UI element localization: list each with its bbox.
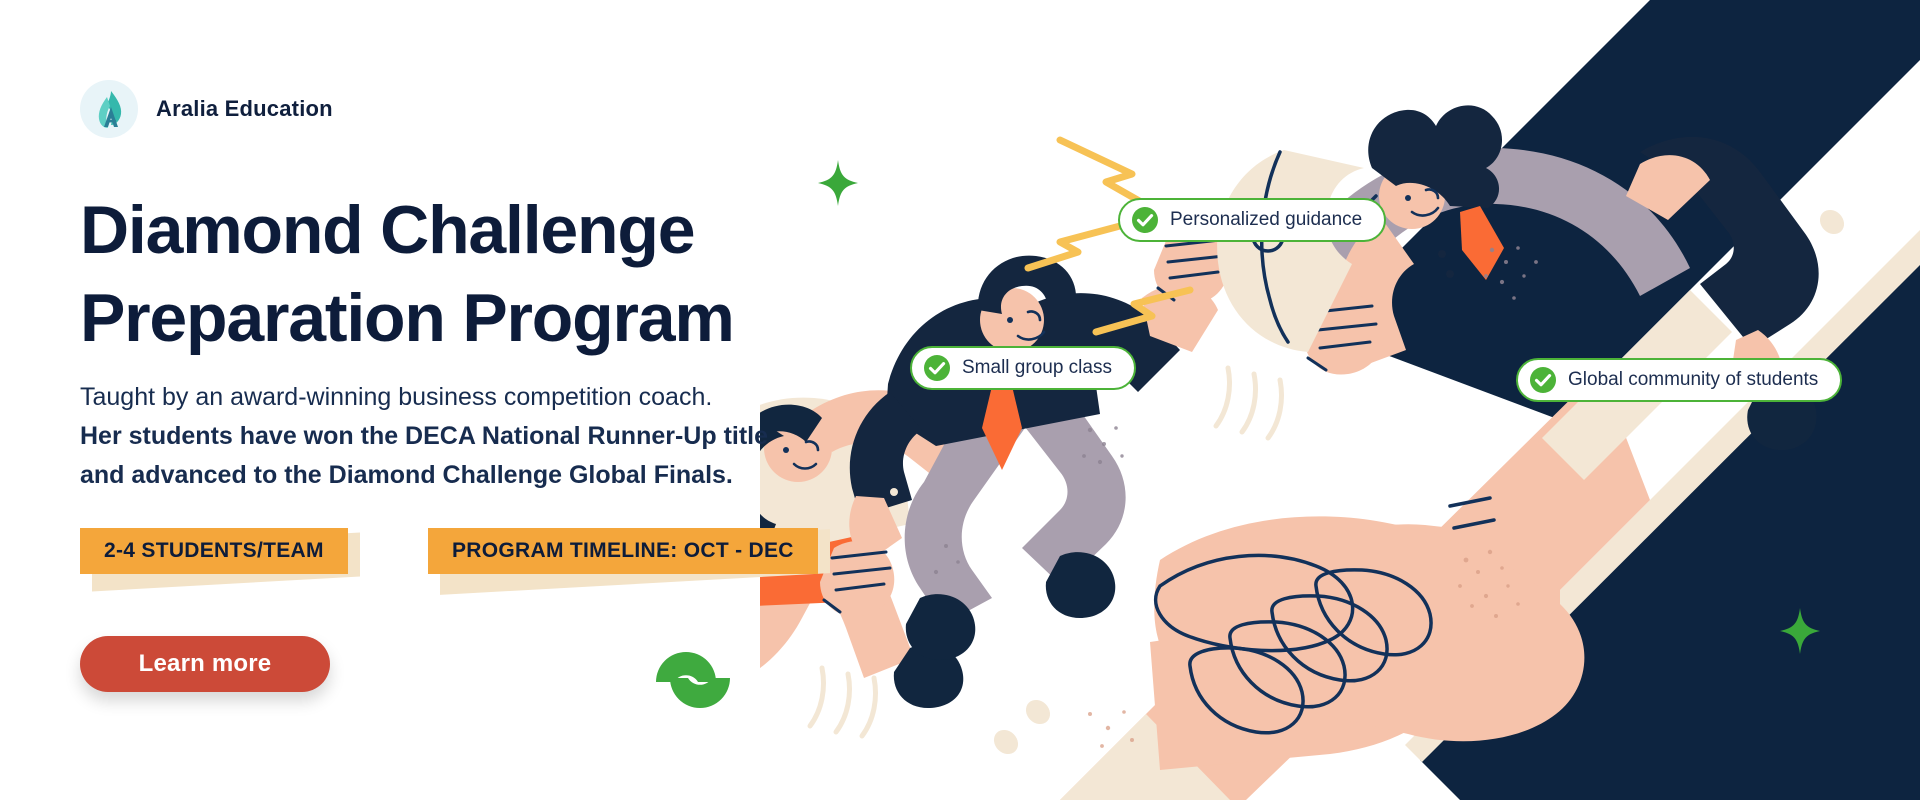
feature-pill-label: Personalized guidance (1170, 209, 1362, 231)
megaphone-icon (1217, 150, 1380, 352)
feature-pill-label: Global community of students (1568, 369, 1818, 391)
hero-banner: Personalized guidance Small group class … (0, 0, 1920, 800)
check-circle-icon (1132, 207, 1158, 233)
feature-pill-personalized-guidance[interactable]: Personalized guidance (1118, 198, 1386, 242)
feature-pill-label: Small group class (962, 357, 1112, 379)
aralia-flame-logo-icon (80, 80, 138, 138)
feature-pill-small-group-class[interactable]: Small group class (910, 346, 1136, 390)
tag-label: 2-4 STUDENTS/TEAM (80, 528, 348, 574)
check-circle-icon (924, 355, 950, 381)
page-title: Diamond Challenge Preparation Program (80, 186, 920, 362)
headline-line-2: Preparation Program (80, 274, 920, 362)
feature-pill-global-community[interactable]: Global community of students (1516, 358, 1842, 402)
sparkle-star-icon (818, 160, 858, 211)
tag-label: PROGRAM TIMELINE: OCT - DEC (428, 528, 818, 574)
sparkle-star-icon (1780, 608, 1820, 659)
subcopy-line-2: Her students have won the DECA National … (80, 417, 920, 456)
tag-students-per-team: 2-4 STUDENTS/TEAM (80, 528, 348, 574)
check-circle-icon (1530, 367, 1556, 393)
tag-program-timeline: PROGRAM TIMELINE: OCT - DEC (428, 528, 818, 574)
hero-subcopy: Taught by an award-winning business comp… (80, 378, 920, 495)
brand-lockup[interactable]: Aralia Education (80, 80, 333, 138)
handshake-graphic (989, 205, 1849, 800)
refresh-loop-icon (650, 644, 736, 721)
learn-more-button[interactable]: Learn more (80, 636, 330, 692)
subcopy-line-1: Taught by an award-winning business comp… (80, 378, 920, 417)
brand-name: Aralia Education (156, 96, 333, 122)
subcopy-line-3: and advanced to the Diamond Challenge Gl… (80, 456, 920, 495)
handshake-upper-sleeve (1405, 230, 1920, 800)
handshake-top-sleeve (1320, 0, 1920, 420)
headline-line-1: Diamond Challenge (80, 192, 694, 268)
